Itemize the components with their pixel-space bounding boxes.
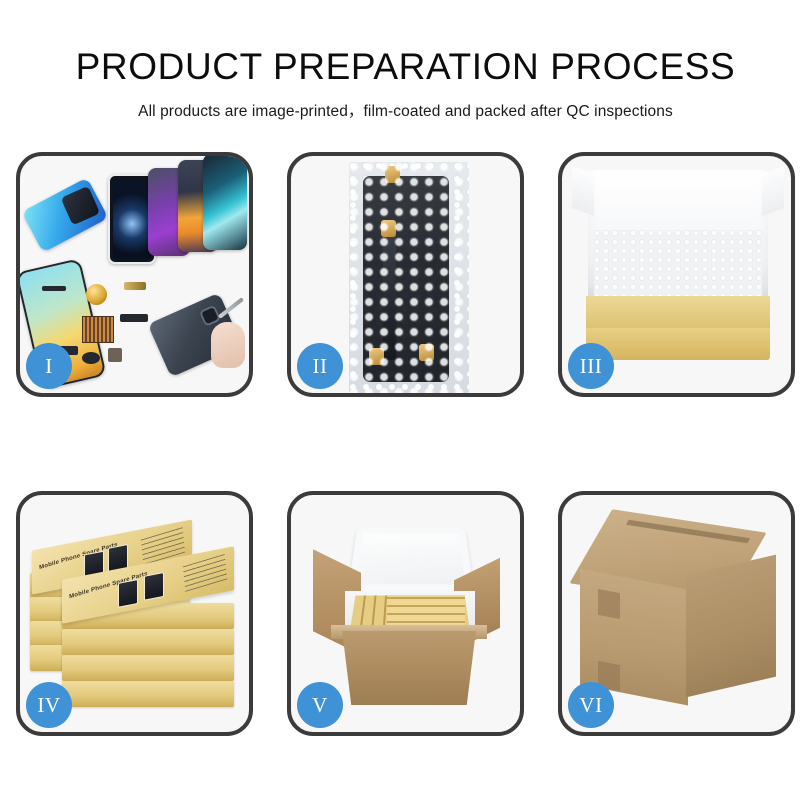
step-badge: II — [297, 343, 343, 389]
page-subtitle: All products are image-printed，film-coat… — [0, 88, 811, 121]
carton-tape-upper — [598, 589, 620, 619]
flex-cable-b — [120, 314, 148, 322]
stacked-box-front-2 — [62, 629, 234, 655]
flex-cable-a — [42, 286, 66, 291]
gold-connector-mid — [381, 220, 396, 237]
stacked-box-front-3 — [62, 655, 234, 681]
gold-boxes-row-right — [387, 595, 465, 629]
foam-sheet — [594, 230, 762, 296]
gold-connector-lower-left — [369, 348, 384, 365]
process-step-2: II — [287, 152, 524, 397]
page-header: PRODUCT PREPARATION PROCESS All products… — [0, 0, 811, 121]
box-spec-lines — [183, 554, 227, 592]
display-flex-cable — [383, 230, 396, 360]
gold-box-inner-wall — [586, 296, 770, 330]
step-badge: IV — [26, 682, 72, 728]
box-product-photo-c — [118, 579, 138, 608]
page-title: PRODUCT PREPARATION PROCESS — [0, 0, 811, 88]
technician-hand — [211, 322, 245, 368]
stacked-box-front-4 — [62, 681, 234, 707]
process-step-3: III — [558, 152, 795, 397]
gold-connector-top — [385, 166, 400, 183]
connector-chip — [82, 316, 114, 343]
camera-module — [108, 348, 122, 362]
process-step-grid: I II III — [16, 152, 795, 736]
gold-box-front-panel — [586, 328, 770, 360]
process-step-6: VI — [558, 491, 795, 736]
vibration-motor — [82, 352, 100, 364]
step-badge: VI — [568, 682, 614, 728]
gold-connector-lower-right — [419, 344, 434, 361]
blue-screen-protector — [22, 177, 109, 252]
bubble-wrap-bag — [349, 162, 469, 393]
speaker-module — [86, 284, 107, 305]
box-product-photo-d — [144, 572, 164, 601]
step-badge: III — [568, 343, 614, 389]
step-badge: V — [297, 682, 343, 728]
box-label-text: Mobile Phone Spare Parts — [39, 542, 118, 571]
step-badge: I — [26, 343, 72, 389]
process-step-4: Mobile Phone Spare Parts Mobile Phone Sp… — [16, 491, 253, 736]
carton-side-face — [686, 555, 776, 698]
process-step-5: V — [287, 491, 524, 736]
process-step-1: I — [16, 152, 253, 397]
teal-phone — [203, 156, 247, 250]
carton-front-panel — [333, 631, 485, 705]
flex-cable-gold — [124, 282, 146, 290]
